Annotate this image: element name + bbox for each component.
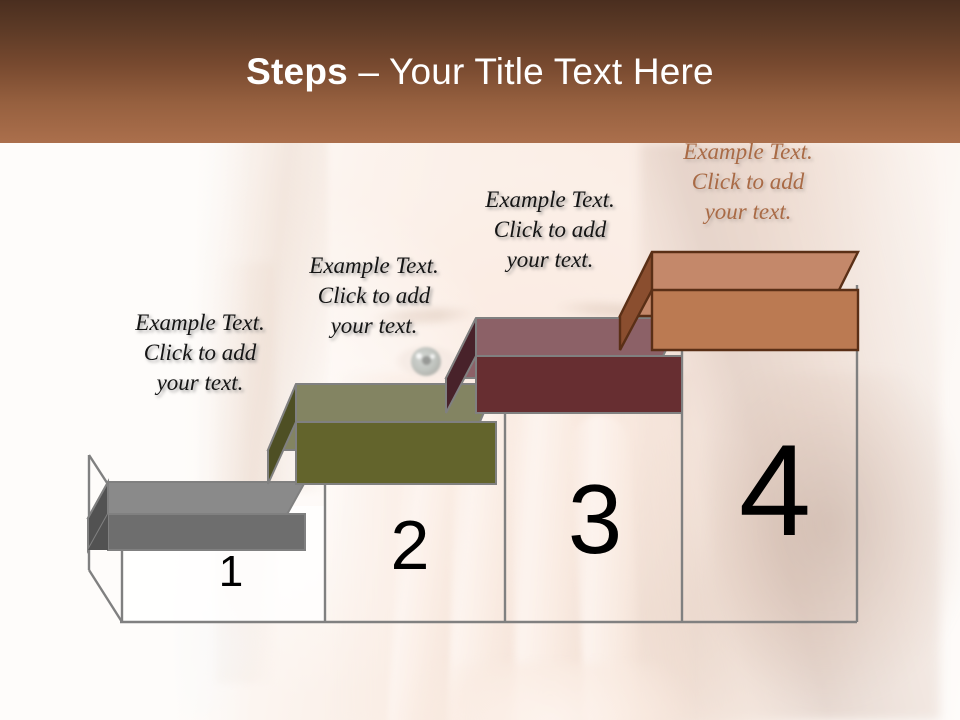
header-bar: Steps – Your Title Text Here [0, 0, 960, 143]
page-title: Steps – Your Title Text Here [0, 49, 960, 94]
step-number-2: 2 [370, 510, 450, 580]
slide: 1 2 3 4 Example Text. Click to add your … [0, 0, 960, 720]
page-title-bold: Steps [246, 51, 348, 92]
page-title-rest: – Your Title Text Here [348, 51, 714, 92]
step-number-3: 3 [545, 470, 645, 568]
step-label-4[interactable]: Example Text. Click to add your text. [640, 137, 856, 227]
step-label-3[interactable]: Example Text. Click to add your text. [442, 185, 658, 275]
step-number-4: 4 [715, 425, 835, 555]
